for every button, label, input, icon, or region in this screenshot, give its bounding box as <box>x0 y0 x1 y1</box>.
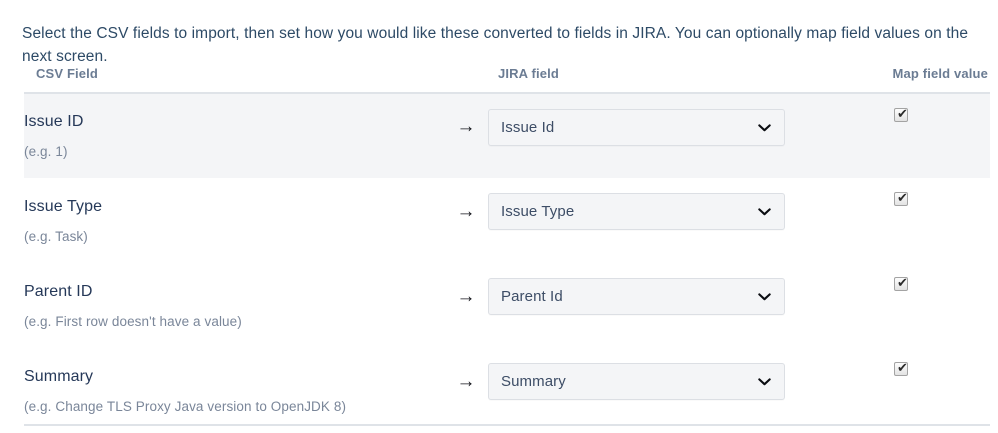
map-field-value-checkbox[interactable]: ✔ <box>894 108 908 122</box>
cell-csv-field: Issue Type (e.g. Task) <box>24 178 444 263</box>
map-field-value-checkbox-wrap: ✔ <box>894 192 908 206</box>
jira-field-select[interactable]: Summary <box>488 363 785 400</box>
map-field-value-checkbox-wrap: ✔ <box>894 108 908 122</box>
check-icon: ✔ <box>897 361 908 377</box>
jira-field-select[interactable]: Issue Id <box>488 109 785 146</box>
field-mapping-table: CSV Field JIRA field Map field value Iss… <box>24 66 990 433</box>
table-header-row: CSV Field JIRA field Map field value <box>24 66 990 93</box>
map-field-value-checkbox-wrap: ✔ <box>894 277 908 291</box>
csv-field-example: (e.g. 1) <box>24 143 444 161</box>
check-icon: ✔ <box>897 107 908 123</box>
cell-map-field-value: ✔ <box>818 348 990 433</box>
jira-field-select-value: Issue Id <box>501 110 750 145</box>
cell-csv-field: Issue ID (e.g. 1) <box>24 93 444 178</box>
arrow-right-icon: → <box>457 287 476 306</box>
csv-field-mapping-screen: Select the CSV fields to import, then se… <box>0 0 998 430</box>
map-field-value-checkbox-wrap: ✔ <box>894 362 908 376</box>
csv-field-name: Issue ID <box>24 111 444 133</box>
table-row: Issue Type (e.g. Task) → Issue Type <box>24 178 990 263</box>
column-header-csv-field: CSV Field <box>24 66 444 93</box>
intro-paragraph: Select the CSV fields to import, then se… <box>22 22 980 68</box>
cell-jira-field: Parent Id <box>488 263 818 348</box>
csv-field-example: (e.g. Task) <box>24 228 444 246</box>
table-header: CSV Field JIRA field Map field value <box>24 66 990 93</box>
jira-field-select[interactable]: Issue Type <box>488 193 785 230</box>
table-body: Issue ID (e.g. 1) → Issue Id <box>24 93 990 433</box>
jira-field-select-value: Issue Type <box>501 194 750 229</box>
table-row: Issue ID (e.g. 1) → Issue Id <box>24 93 990 178</box>
cell-jira-field: Issue Type <box>488 178 818 263</box>
cell-arrow: → <box>444 348 488 433</box>
table-row: Summary (e.g. Change TLS Proxy Java vers… <box>24 348 990 433</box>
column-header-jira-field: JIRA field <box>488 66 818 93</box>
cell-jira-field: Issue Id <box>488 93 818 178</box>
map-field-value-checkbox[interactable]: ✔ <box>894 192 908 206</box>
cell-map-field-value: ✔ <box>818 93 990 178</box>
jira-field-select[interactable]: Parent Id <box>488 278 785 315</box>
cell-map-field-value: ✔ <box>818 263 990 348</box>
arrow-right-icon: → <box>457 372 476 391</box>
jira-field-select-value: Parent Id <box>501 279 750 314</box>
jira-field-select-value: Summary <box>501 364 750 399</box>
check-icon: ✔ <box>897 191 908 207</box>
cell-csv-field: Parent ID (e.g. First row doesn't have a… <box>24 263 444 348</box>
csv-field-example: (e.g. First row doesn't have a value) <box>24 313 444 331</box>
chevron-down-icon <box>758 364 772 399</box>
csv-field-name: Summary <box>24 366 444 388</box>
csv-field-name: Parent ID <box>24 281 444 303</box>
map-field-value-checkbox[interactable]: ✔ <box>894 277 908 291</box>
check-icon: ✔ <box>897 276 908 292</box>
chevron-down-icon <box>758 279 772 314</box>
cell-map-field-value: ✔ <box>818 178 990 263</box>
csv-field-name: Issue Type <box>24 196 444 218</box>
map-field-value-checkbox[interactable]: ✔ <box>894 362 908 376</box>
arrow-right-icon: → <box>457 117 476 136</box>
column-header-arrow-spacer <box>444 66 488 93</box>
cell-jira-field: Summary <box>488 348 818 433</box>
chevron-down-icon <box>758 110 772 145</box>
arrow-right-icon: → <box>457 202 476 221</box>
cell-arrow: → <box>444 178 488 263</box>
chevron-down-icon <box>758 194 772 229</box>
csv-field-example: (e.g. Change TLS Proxy Java version to O… <box>24 398 444 416</box>
table-row: Parent ID (e.g. First row doesn't have a… <box>24 263 990 348</box>
cell-csv-field: Summary (e.g. Change TLS Proxy Java vers… <box>24 348 444 433</box>
cell-arrow: → <box>444 93 488 178</box>
cell-arrow: → <box>444 263 488 348</box>
bottom-divider <box>24 424 990 426</box>
column-header-map-field-value: Map field value <box>818 66 990 93</box>
